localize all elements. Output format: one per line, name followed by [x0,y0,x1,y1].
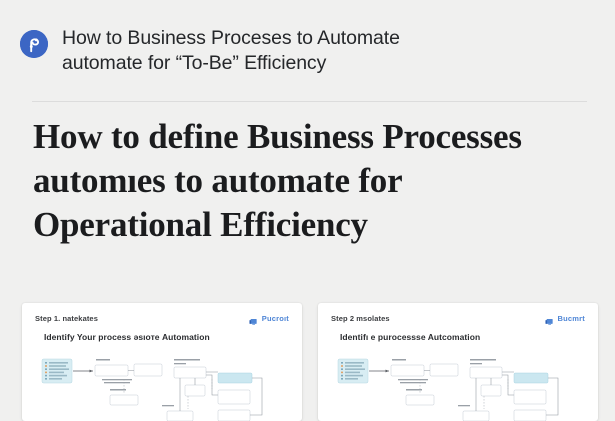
card-step-label: Step 1. natekates [35,314,98,323]
card-brand: Bucmrt [545,314,585,323]
header-divider [32,101,587,102]
page-root: How to Business Proceses to Automate aut… [0,0,615,410]
header-title: How to Business Proceses to Automate aut… [62,26,400,76]
card-step-label: Step 2 msolates [331,314,390,323]
card-brand-name: Bucmrt [558,314,585,323]
card-brand-name: Pucroıt [262,314,289,323]
card-subtitle: Identify Your process əsıоте Automation [22,323,302,342]
page-header: How to Business Proceses to Automate aut… [0,0,615,100]
card-header: Step 1. natekates Pucroıt [22,303,302,323]
step-card[interactable]: Step 1. natekates Pucroıt Identify Your … [22,303,302,421]
page-title-line-1: How to define Business Processes [33,115,578,159]
card-brand: Pucroıt [249,314,289,323]
header-title-line-1: How to Business Proceses to Automate [62,26,400,51]
pipeline-circle-logo-icon [20,30,48,58]
process-diagram [22,355,302,421]
header-title-line-2: automate for “To-Be” Efficiency [62,51,400,76]
monitor-icon [249,314,258,323]
page-title: How to define Business Processes automıe… [33,115,578,247]
hero-section: How to define Business Processes automıe… [33,115,578,247]
monitor-icon [545,314,554,323]
card-row: Step 1. natekates Pucroıt Identify Your … [22,303,586,421]
process-diagram [318,355,598,421]
card-header: Step 2 msolates Bucmrt [318,303,598,323]
page-title-line-2: automıes to automate for [33,159,578,203]
step-card[interactable]: Step 2 msolates Bucmrt Identifı e puroce… [318,303,598,421]
page-title-line-3: Operational Efficiency [33,203,578,247]
card-subtitle: Identifı e purocessse Autcomation [318,323,598,342]
